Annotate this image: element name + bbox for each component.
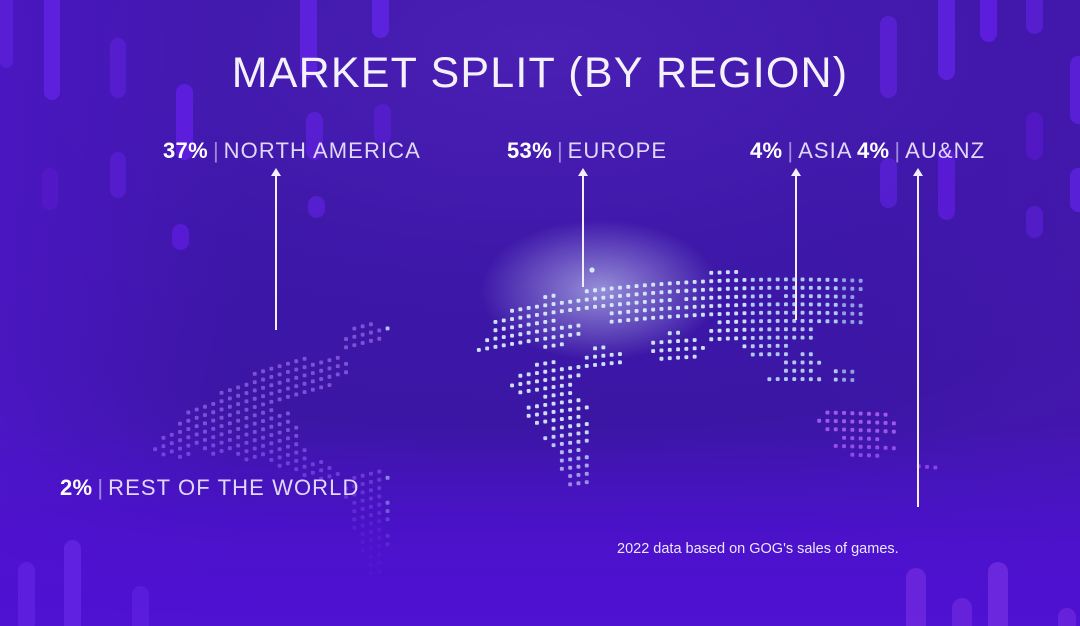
stat-au-nz: 4%|AU&NZ [857,140,985,162]
decor-bottom-left-bar [132,586,149,626]
decor-bottom-right-bar [906,568,926,626]
stat-north-america: 37%|NORTH AMERICA [163,140,421,162]
arrow-head-icon [913,168,923,176]
stat-separator: | [208,138,224,163]
decor-bottom-left-bar [18,562,35,626]
pointer-arrow-au-nz [917,175,919,507]
arrow-head-icon [791,168,801,176]
stat-percent: 2% [60,475,92,500]
stat-region-name: AU&NZ [905,138,985,163]
decor-bottom-right-bar [1058,608,1076,626]
pointer-arrow-north-america [275,175,277,330]
decor-bottom-right-bar [988,562,1008,626]
stat-region-name: REST OF THE WORLD [108,475,359,500]
arrow-head-icon [271,168,281,176]
stat-separator: | [552,138,568,163]
decor-bottom-left-bar [64,540,81,626]
infographic-canvas: MARKET SPLIT (BY REGION) 37%|NORTH AMERI… [0,0,1080,626]
stat-region-name: NORTH AMERICA [224,138,421,163]
stat-percent: 4% [857,138,889,163]
stat-region-name: EUROPE [568,138,668,163]
stat-percent: 4% [750,138,782,163]
stat-separator: | [782,138,798,163]
pointer-arrow-asia [795,175,797,320]
stat-asia: 4%|ASIA [750,140,853,162]
stat-percent: 53% [507,138,552,163]
page-title: MARKET SPLIT (BY REGION) [0,49,1080,98]
pointer-arrow-europe [582,175,584,287]
footnote: 2022 data based on GOG's sales of games. [617,541,899,557]
stat-separator: | [889,138,905,163]
decor-bottom-right-bar [952,598,972,626]
stat-percent: 37% [163,138,208,163]
stat-region-name: ASIA [798,138,853,163]
stat-europe: 53%|EUROPE [507,140,667,162]
stat-rest-of-the-world: 2%|REST OF THE WORLD [60,477,359,499]
arrow-head-icon [578,168,588,176]
stat-separator: | [92,475,108,500]
